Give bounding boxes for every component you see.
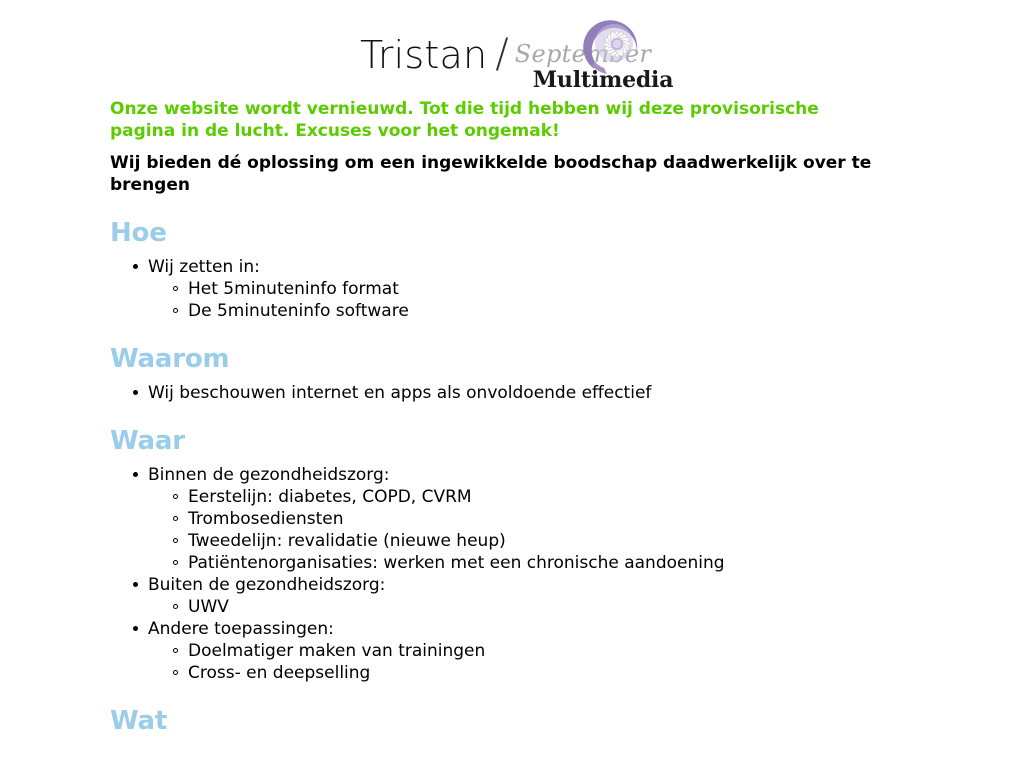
- sub-list-item: Tweedelijn: revalidatie (nieuwe heup): [173, 530, 940, 552]
- bullet-circle-icon: [173, 286, 178, 291]
- sub-list-item-label: De 5minuteninfo software: [188, 301, 409, 321]
- bullet-circle-icon: [173, 538, 178, 543]
- list-item: Buiten de gezondheidszorg: UWV: [133, 574, 940, 618]
- section-list-hoe: Wij zetten in: Het 5minuteninfo format D…: [110, 256, 940, 322]
- brand-name-tristan: Tristan: [360, 8, 487, 74]
- list-item: Wij zetten in: Het 5minuteninfo format D…: [133, 256, 940, 322]
- list-item-label: Andere toepassingen:: [148, 619, 334, 639]
- bullet-circle-icon: [173, 560, 178, 565]
- section-heading-waar: Waar: [110, 426, 940, 456]
- sub-list-item: Trombosediensten: [173, 508, 940, 530]
- sub-list: Het 5minuteninfo format De 5minuteninfo …: [148, 278, 940, 322]
- bullet-circle-icon: [173, 308, 178, 313]
- bullet-circle-icon: [173, 648, 178, 653]
- list-item: Andere toepassingen: Doelmatiger maken v…: [133, 618, 940, 684]
- sub-list: Eerstelijn: diabetes, COPD, CVRM Trombos…: [148, 486, 940, 574]
- bullet-circle-icon: [173, 604, 178, 609]
- sub-list-item: Patiëntenorganisaties: werken met een ch…: [173, 552, 940, 574]
- section-list-waarom: Wij beschouwen internet en apps als onvo…: [110, 382, 940, 404]
- bullet-circle-icon: [173, 516, 178, 521]
- sub-list-item: Doelmatiger maken van trainingen: [173, 640, 940, 662]
- sub-list-item: De 5minuteninfo software: [173, 300, 940, 322]
- bullet-circle-icon: [173, 670, 178, 675]
- sub-list-item: UWV: [173, 596, 940, 618]
- sub-list-item-label: UWV: [188, 597, 229, 617]
- list-item: Wij beschouwen internet en apps als onvo…: [133, 382, 940, 404]
- list-item-label: Wij beschouwen internet en apps als onvo…: [148, 383, 651, 403]
- list-item-label: Buiten de gezondheidszorg:: [148, 575, 385, 595]
- purple-swirl-flower-logo-icon: [573, 6, 649, 82]
- bullet-disc-icon: [133, 264, 138, 269]
- sub-list-item-label: Trombosediensten: [188, 509, 343, 529]
- bullet-disc-icon: [133, 626, 138, 631]
- list-item: Binnen de gezondheidszorg: Eerstelijn: d…: [133, 464, 940, 574]
- site-renewal-notice: Onze website wordt vernieuwd. Tot die ti…: [110, 98, 870, 142]
- page-content: Onze website wordt vernieuwd. Tot die ti…: [0, 98, 940, 736]
- section-heading-wat: Wat: [110, 706, 940, 736]
- sub-list: Doelmatiger maken van trainingen Cross- …: [148, 640, 940, 684]
- bullet-disc-icon: [133, 582, 138, 587]
- sub-list-item: Cross- en deepselling: [173, 662, 940, 684]
- site-masthead: Tristan / September Multimedia: [0, 0, 1024, 98]
- list-item-label: Binnen de gezondheidszorg:: [148, 465, 390, 485]
- sub-list-item-label: Patiëntenorganisaties: werken met een ch…: [188, 553, 725, 573]
- bullet-disc-icon: [133, 472, 138, 477]
- sub-list: UWV: [148, 596, 940, 618]
- sub-list-item-label: Doelmatiger maken van trainingen: [188, 641, 485, 661]
- section-heading-hoe: Hoe: [110, 218, 940, 248]
- sub-list-item-label: Eerstelijn: diabetes, COPD, CVRM: [188, 487, 472, 507]
- sub-list-item-label: Cross- en deepselling: [188, 663, 370, 683]
- bullet-disc-icon: [133, 390, 138, 395]
- sub-list-item: Eerstelijn: diabetes, COPD, CVRM: [173, 486, 940, 508]
- sub-list-item-label: Het 5minuteninfo format: [188, 279, 399, 299]
- brand-logo-lockup[interactable]: Tristan / September Multimedia: [360, 8, 673, 90]
- value-proposition-text: Wij bieden dé oplossing om een ingewikke…: [110, 152, 922, 196]
- section-list-waar: Binnen de gezondheidszorg: Eerstelijn: d…: [110, 464, 940, 684]
- list-item-label: Wij zetten in:: [148, 257, 260, 277]
- sub-list-item-label: Tweedelijn: revalidatie (nieuwe heup): [188, 531, 506, 551]
- bullet-circle-icon: [173, 494, 178, 499]
- sub-list-item: Het 5minuteninfo format: [173, 278, 940, 300]
- section-heading-waarom: Waarom: [110, 344, 940, 374]
- brand-separator-slash: /: [487, 8, 514, 74]
